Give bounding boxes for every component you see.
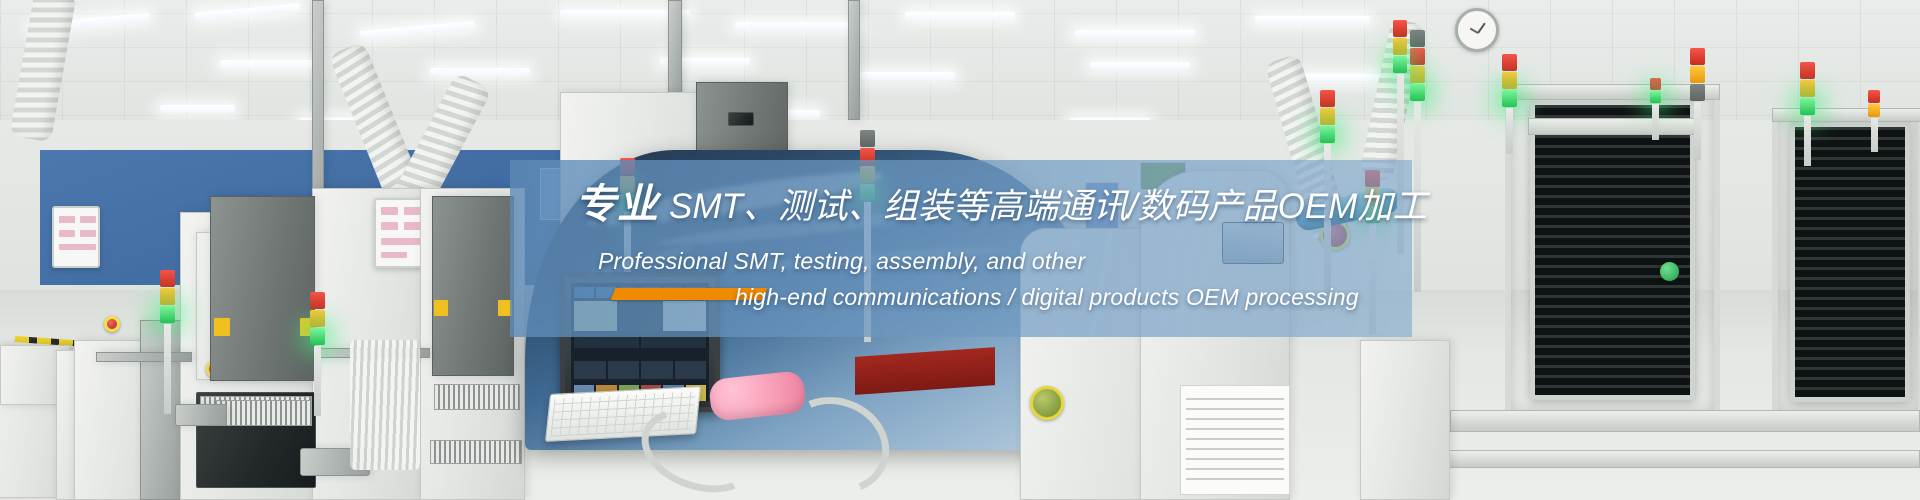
emergency-stop-button (104, 316, 120, 332)
ceiling-light (1300, 74, 1385, 81)
headline: 专业 SMT、测试、组装等高端通讯/数码产品OEM加工 (575, 184, 1427, 225)
rack-base-rail (1430, 450, 1920, 468)
emergency-stop-button (1030, 386, 1064, 420)
machine-window (728, 112, 754, 126)
rack-frame (1505, 88, 1720, 418)
ceiling-light (1255, 16, 1370, 23)
headline-emphasis: 专业 (575, 184, 659, 225)
status-dot (1660, 262, 1679, 281)
signal-tower-light (1410, 30, 1425, 292)
ceiling-light (860, 72, 955, 79)
feeder-bank (434, 384, 520, 410)
signal-tower-light (1800, 62, 1815, 166)
headline-rest: SMT、测试、组装等高端通讯/数码产品OEM加工 (669, 189, 1427, 224)
machine-frame-post (848, 0, 860, 120)
rack-base-rail (1450, 410, 1920, 432)
ceiling-light (430, 68, 530, 75)
machine-hmi-screen (52, 206, 100, 268)
machine-document-sheet (1180, 385, 1290, 495)
ceiling-light (160, 105, 235, 112)
feeder-bank (430, 440, 522, 464)
signal-tower-light (1690, 48, 1705, 160)
feeder-bank (216, 400, 312, 426)
signal-tower-light (1868, 90, 1880, 152)
rack-cross-bar (1528, 118, 1698, 135)
ceiling-light (905, 12, 1015, 19)
signal-tower-light (1650, 78, 1661, 140)
ceiling-light (1075, 30, 1195, 37)
conveyor-rail (96, 352, 192, 362)
ceiling-light (735, 22, 860, 29)
cable-bundle (350, 340, 420, 470)
rack-top-bar (1772, 108, 1920, 122)
headline-overlay-panel: 专业 SMT、测试、组装等高端通讯/数码产品OEM加工 Professional… (510, 160, 1412, 337)
wall-clock-icon (1455, 8, 1499, 52)
hazard-label (434, 300, 448, 316)
hazard-label (214, 318, 230, 336)
ceiling-light (220, 60, 315, 67)
signal-tower-light (1502, 54, 1517, 154)
floor-trolley (175, 404, 227, 426)
machine-window (210, 196, 315, 381)
machine-hmi-screen (374, 198, 426, 268)
signal-tower-light (160, 270, 175, 414)
ceiling-light (1090, 62, 1190, 69)
subtitle-line-1: Professional SMT, testing, assembly, and… (598, 248, 1085, 275)
machine-cabinet (1360, 340, 1450, 500)
hero-banner: 专业 SMT、测试、组装等高端通讯/数码产品OEM加工 Professional… (0, 0, 1920, 500)
rack-top-bar (1505, 84, 1720, 100)
machine-window (432, 196, 514, 376)
signal-tower-light (310, 292, 325, 416)
subtitle-line-2: high-end communications / digital produc… (735, 284, 1359, 311)
rack-frame (1772, 112, 1920, 418)
